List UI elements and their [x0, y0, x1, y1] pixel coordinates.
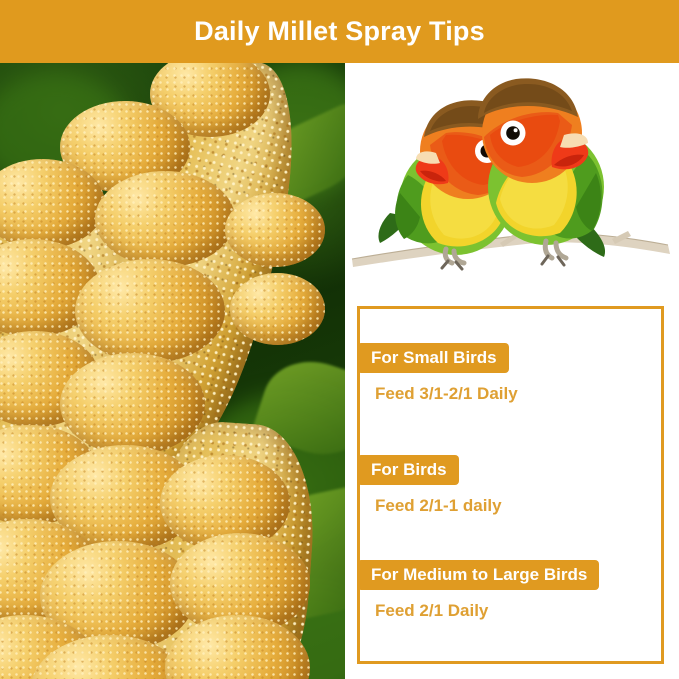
millet-cluster	[230, 273, 325, 345]
lovebirds-photo	[350, 63, 679, 285]
millet-cluster	[60, 353, 205, 455]
tip-badge-label: For Birds	[357, 455, 459, 485]
tip-detail-text: Feed 2/1 Daily	[375, 601, 599, 621]
tip-detail-text: Feed 2/1-1 daily	[375, 496, 502, 516]
feeding-tips-box: For Small Birds Feed 3/1-2/1 Daily For B…	[357, 306, 664, 664]
millet-spray-photo	[0, 63, 345, 679]
tip-badge-label: For Small Birds	[357, 343, 509, 373]
millet-spray-illustration	[0, 63, 345, 679]
lovebirds-illustration	[350, 63, 679, 285]
tip-badge-label: For Medium to Large Birds	[357, 560, 599, 590]
tip-group: For Small Birds Feed 3/1-2/1 Daily	[357, 343, 518, 404]
millet-cluster	[95, 171, 235, 267]
header-banner: Daily Millet Spray Tips	[0, 0, 679, 63]
tip-group: For Medium to Large Birds Feed 2/1 Daily	[357, 560, 599, 621]
infographic-root: Daily Millet Spray Tips	[0, 0, 679, 679]
tip-group: For Birds Feed 2/1-1 daily	[357, 455, 502, 516]
millet-cluster	[225, 193, 325, 267]
tip-detail-text: Feed 3/1-2/1 Daily	[375, 384, 518, 404]
page-title: Daily Millet Spray Tips	[194, 16, 485, 47]
millet-cluster	[75, 259, 225, 363]
